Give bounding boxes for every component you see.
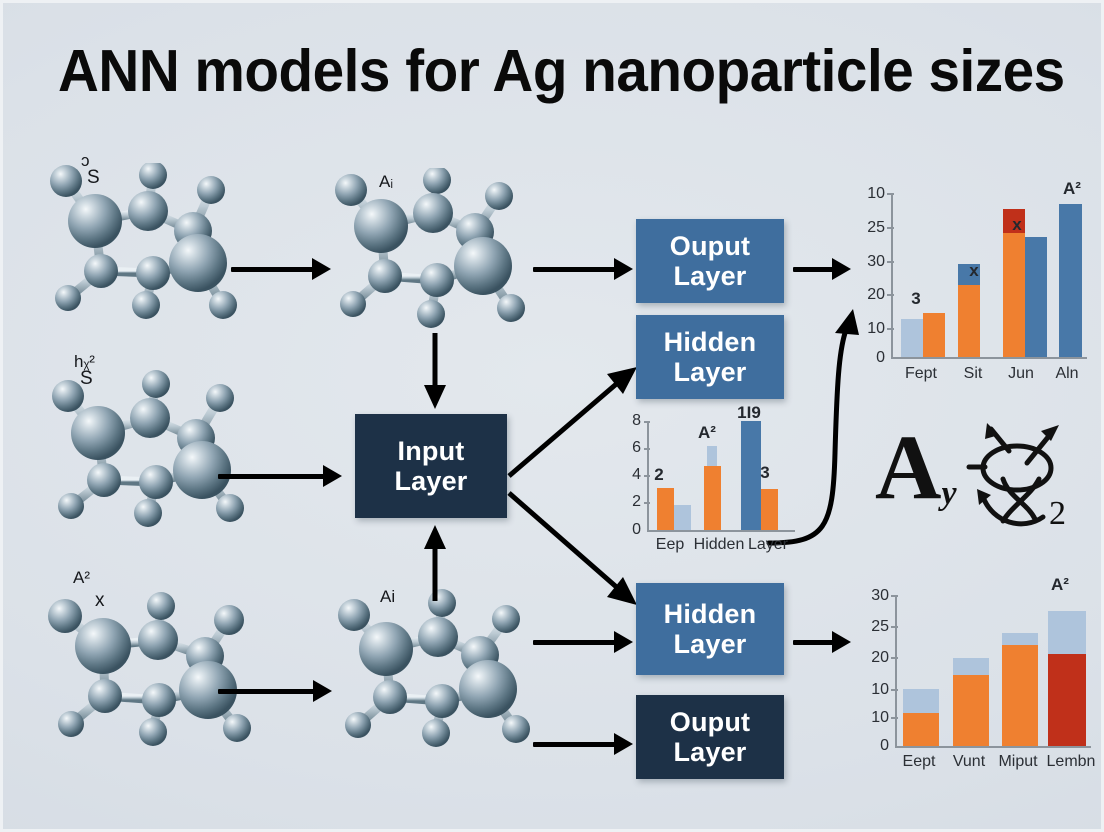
bar (1048, 654, 1086, 746)
chart-xtick: Layer (741, 536, 795, 554)
chart-xtick: Hidden (689, 536, 749, 554)
bar (923, 313, 945, 357)
chart-tick (891, 626, 898, 628)
arrow-molecule-to-molecule-bottom (218, 680, 333, 702)
chart-ytick: 30 (849, 253, 885, 271)
chart-ytick: 6 (617, 439, 641, 457)
chart-tick (644, 421, 650, 423)
bar (1002, 633, 1038, 645)
arrow-molecule-to-output-top (533, 258, 633, 280)
chart-plot-area (893, 193, 1087, 357)
chart-ytick: 10 (851, 709, 889, 727)
chart-annotation: x (961, 261, 987, 281)
bar (704, 466, 721, 530)
arrow-molecule-to-input-vertical (415, 333, 455, 411)
formula-subscript: y (941, 475, 956, 512)
arrow-molecule-to-input-middle (218, 465, 343, 487)
formula-letter: A (875, 416, 941, 518)
diagram-canvas: ANN models for Ag nanoparticle sizes ɔ S (0, 0, 1104, 832)
formula-letter-a: Ay (875, 421, 957, 513)
layer-box-line2: Layer (673, 629, 746, 659)
bar (657, 488, 674, 530)
chart-x-axis (895, 746, 1091, 748)
molecule-top-mid: Aᵢ (323, 168, 558, 338)
scribble-glyph-icon: 2 (965, 423, 1085, 543)
chart-ytick: 0 (851, 737, 889, 755)
chart-ytick: 25 (851, 618, 889, 636)
scribble-subscript: 2 (1049, 495, 1066, 533)
molecule-svg (38, 358, 293, 533)
molecule-label-main: x (95, 590, 105, 612)
chart-x-axis (647, 530, 795, 532)
layer-box-line1: Hidden (664, 599, 757, 629)
bar (761, 489, 778, 530)
chart-ytick: 25 (849, 219, 885, 237)
molecule-svg (33, 568, 298, 753)
bar (903, 689, 939, 713)
chart-tick (887, 294, 894, 296)
molecule-label-bottom-mid: Ai (380, 587, 395, 607)
chart-tick (891, 717, 898, 719)
chart-ytick: 30 (851, 587, 889, 605)
molecule-label-main: Ai (380, 587, 395, 606)
molecule-label-top-mid: Aᵢ (379, 172, 393, 192)
chart-tick (644, 502, 650, 504)
molecule-top-left: ɔ S (33, 163, 288, 338)
molecule-label-bottom-left: A² x (73, 568, 90, 588)
chart-ytick: 20 (849, 286, 885, 304)
molecule-svg (33, 163, 288, 338)
bar (1003, 233, 1025, 357)
scribble-svg (965, 423, 1085, 538)
chart-tick (644, 448, 650, 450)
chart-ytick: 2 (617, 493, 641, 511)
chart-ytick: 10 (849, 320, 885, 338)
chart-tick (891, 657, 898, 659)
chart-xtick: Eep (645, 536, 695, 554)
layer-box-line1: Ouput (670, 231, 750, 261)
layer-box-line1: Hidden (664, 327, 757, 357)
chart-annotation: A² (693, 423, 721, 443)
layer-box-input[interactable]: Input Layer (355, 414, 507, 518)
chart-tick (887, 193, 894, 195)
chart-xtick: Eept (891, 753, 947, 771)
chart-xtick: Fept (891, 365, 951, 383)
chart-middle: 8 6 4 2 0 Eep Hidden Layer 2 A² 1I9 3 (615, 403, 805, 553)
chart-annotation: 2 (647, 465, 671, 485)
arrow-molecule-to-output-bottom (533, 733, 633, 755)
chart-plot-area (897, 595, 1091, 746)
chart-tick (887, 328, 894, 330)
bar (1002, 645, 1038, 746)
chart-xtick: Lembn (1039, 753, 1103, 771)
molecule-bottom-left: A² x (33, 568, 298, 753)
arrow-molecule-to-hidden-bottom (533, 631, 633, 653)
chart-xtick: Aln (1037, 365, 1097, 383)
molecule-middle-left: hᵪ² S (38, 358, 293, 533)
layer-box-line1: Ouput (670, 707, 750, 737)
chart-tick (887, 227, 894, 229)
bar (1048, 611, 1086, 654)
layer-box-line1: Input (398, 436, 465, 466)
chart-tick (891, 689, 898, 691)
chart-x-axis (891, 357, 1087, 359)
bar (953, 675, 989, 746)
layer-box-hidden-top[interactable]: Hidden Layer (636, 315, 784, 399)
layer-box-output-top[interactable]: Ouput Layer (636, 219, 784, 303)
layer-box-line2: Layer (673, 357, 746, 387)
molecule-label-middle-left: hᵪ² S (74, 352, 95, 372)
molecule-label-main: S (87, 167, 100, 189)
chart-annotation: A² (1041, 575, 1079, 595)
bar (953, 658, 989, 675)
arrow-molecule-to-input-vertical-up (415, 523, 455, 601)
chart-ytick: 0 (849, 349, 885, 367)
chart-ytick: 10 (849, 185, 885, 203)
molecule-label-main: S (80, 368, 93, 390)
chart-ytick: 20 (851, 649, 889, 667)
bar (674, 505, 691, 530)
molecule-svg (323, 168, 558, 338)
layer-box-line2: Layer (394, 466, 467, 496)
molecule-label-main: Aᵢ (379, 172, 393, 191)
chart-top-right: 10 25 30 20 10 0 Fept Sit Jun Aln 3 x x … (841, 183, 1091, 383)
bar (958, 285, 980, 357)
bar (903, 713, 939, 746)
chart-annotation: 3 (903, 289, 929, 309)
bar (901, 319, 923, 357)
chart-bottom-right: 30 25 20 10 10 0 Eept Vunt Miput Lembn A… (843, 573, 1093, 768)
layer-box-hidden-bottom[interactable]: Hidden Layer (636, 583, 784, 675)
chart-ytick: 10 (851, 681, 889, 699)
chart-ytick: 8 (617, 412, 641, 430)
molecule-label-top-left: ɔ S (81, 151, 90, 171)
chart-tick (891, 595, 898, 597)
chart-annotation: A² (1055, 179, 1089, 199)
page-title: ANN models for Ag nanoparticle sizes (58, 37, 1008, 109)
chart-annotation: 3 (753, 463, 777, 483)
chart-ytick: 4 (617, 466, 641, 484)
layer-box-line2: Layer (673, 261, 746, 291)
bar (1059, 204, 1082, 357)
chart-ytick: 0 (617, 521, 641, 539)
chart-annotation: x (1004, 215, 1030, 235)
chart-tick (887, 261, 894, 263)
chart-annotation: 1I9 (733, 403, 765, 423)
molecule-label-sup: A² (73, 568, 90, 587)
bar (1025, 237, 1047, 357)
layer-box-line2: Layer (673, 737, 746, 767)
arrow-molecule-to-molecule-top (231, 258, 331, 280)
layer-box-output-bottom[interactable]: Ouput Layer (636, 695, 784, 779)
